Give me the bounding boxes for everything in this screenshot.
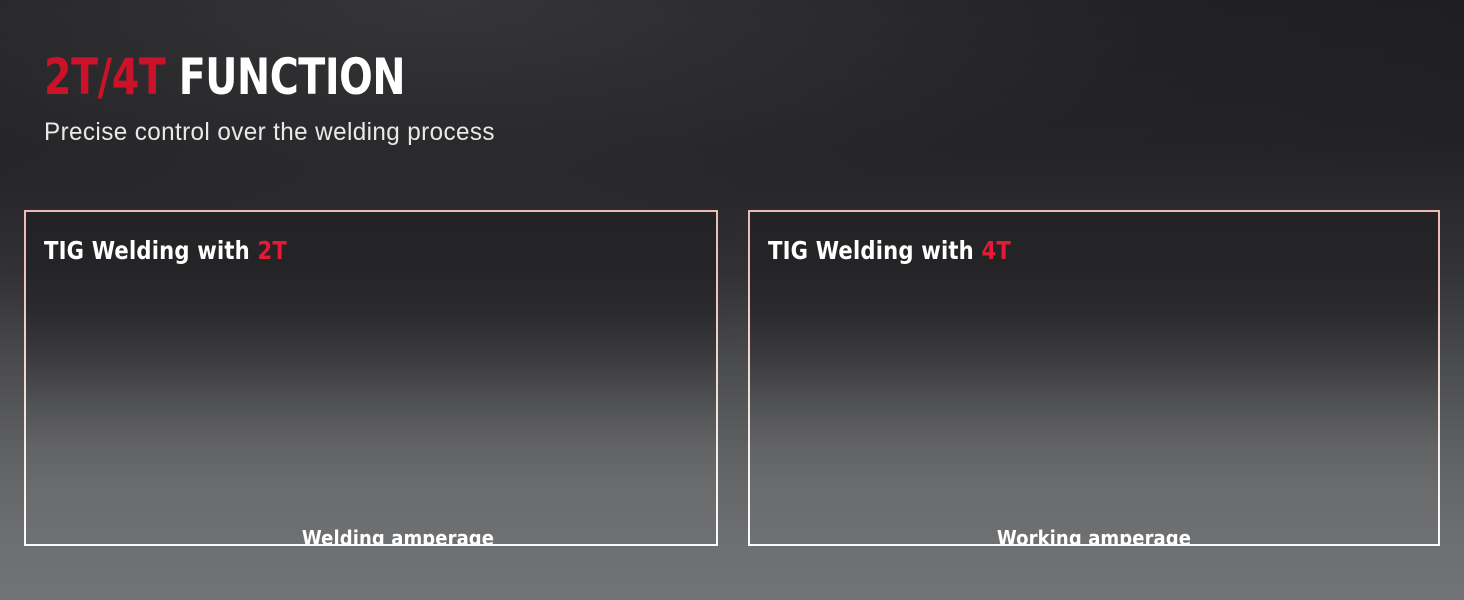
panel-tig-4t: TIG Welding with 4T: [748, 210, 1440, 546]
diagram-4t: Working amperage Starting Amperage Endin…: [750, 212, 1438, 544]
label-welding-amperage: Welding amperage: [302, 527, 494, 546]
panel-tig-2t: TIG Welding with 2T Welding amperage On …: [24, 210, 718, 546]
diagram-2t: Welding amperage On Off Ramp up Ramp dow…: [26, 212, 716, 544]
page-title-accent: 2T/4T: [44, 48, 165, 106]
label-working-amperage: Working amperage: [997, 527, 1191, 546]
page-subtitle: Precise control over the welding process: [44, 118, 495, 147]
page-title-rest: FUNCTION: [179, 48, 405, 106]
page-header: 2T/4T FUNCTION Precise control over the …: [44, 52, 509, 147]
page-title: 2T/4T FUNCTION: [44, 52, 453, 102]
infographic-page: 2T/4T FUNCTION Precise control over the …: [0, 0, 1464, 600]
